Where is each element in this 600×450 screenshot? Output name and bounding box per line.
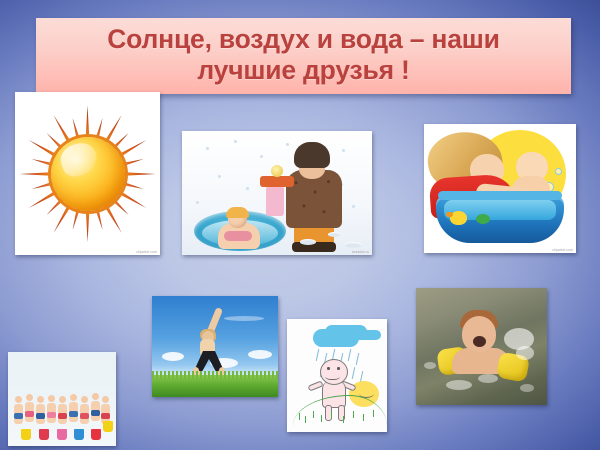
exercising-figure — [192, 317, 236, 379]
blue-bathtub — [436, 195, 564, 243]
image-credit: clipartof.com — [552, 248, 573, 252]
swimming-boy-photo — [416, 288, 547, 405]
image-credit: clipartof.com — [136, 250, 157, 254]
bather-hair — [226, 207, 249, 218]
image-card-baby-bath[interactable]: clipartof.com — [424, 124, 576, 253]
rain-cloud-icon — [313, 329, 359, 347]
grass-field — [152, 375, 278, 397]
winter-ice-bathing-illustration: anekdot.ru — [182, 131, 372, 255]
sun-disc-icon — [51, 137, 125, 211]
child-drawing-rain-sun — [287, 319, 387, 432]
presentation-slide: Солнце, воздух и вода – наши лучшие друз… — [0, 0, 600, 450]
image-card-children-buckets[interactable] — [8, 352, 116, 446]
pink-towel — [266, 186, 284, 216]
image-card-winter[interactable]: anekdot.ru — [182, 131, 372, 255]
image-credit: anekdot.ru — [352, 250, 369, 254]
title-banner: Солнце, воздух и вода – наши лучшие друз… — [36, 18, 571, 94]
tray-with-drink — [260, 176, 294, 187]
image-card-child-drawing[interactable] — [287, 319, 387, 432]
bath-toy — [476, 214, 490, 224]
baby-bath-illustration: clipartof.com — [424, 124, 576, 253]
image-card-swimming-boy[interactable] — [416, 288, 547, 405]
image-card-sun[interactable]: clipartof.com — [15, 92, 160, 255]
children-with-buckets-photo — [8, 352, 116, 446]
image-card-woman-exercising[interactable] — [152, 296, 278, 397]
woman-exercising-photo — [152, 296, 278, 397]
sun-illustration: clipartof.com — [15, 92, 160, 255]
bather-swimsuit — [224, 231, 252, 241]
rubber-duck-icon — [450, 211, 467, 225]
page-title: Солнце, воздух и вода – наши лучшие друз… — [107, 24, 500, 87]
